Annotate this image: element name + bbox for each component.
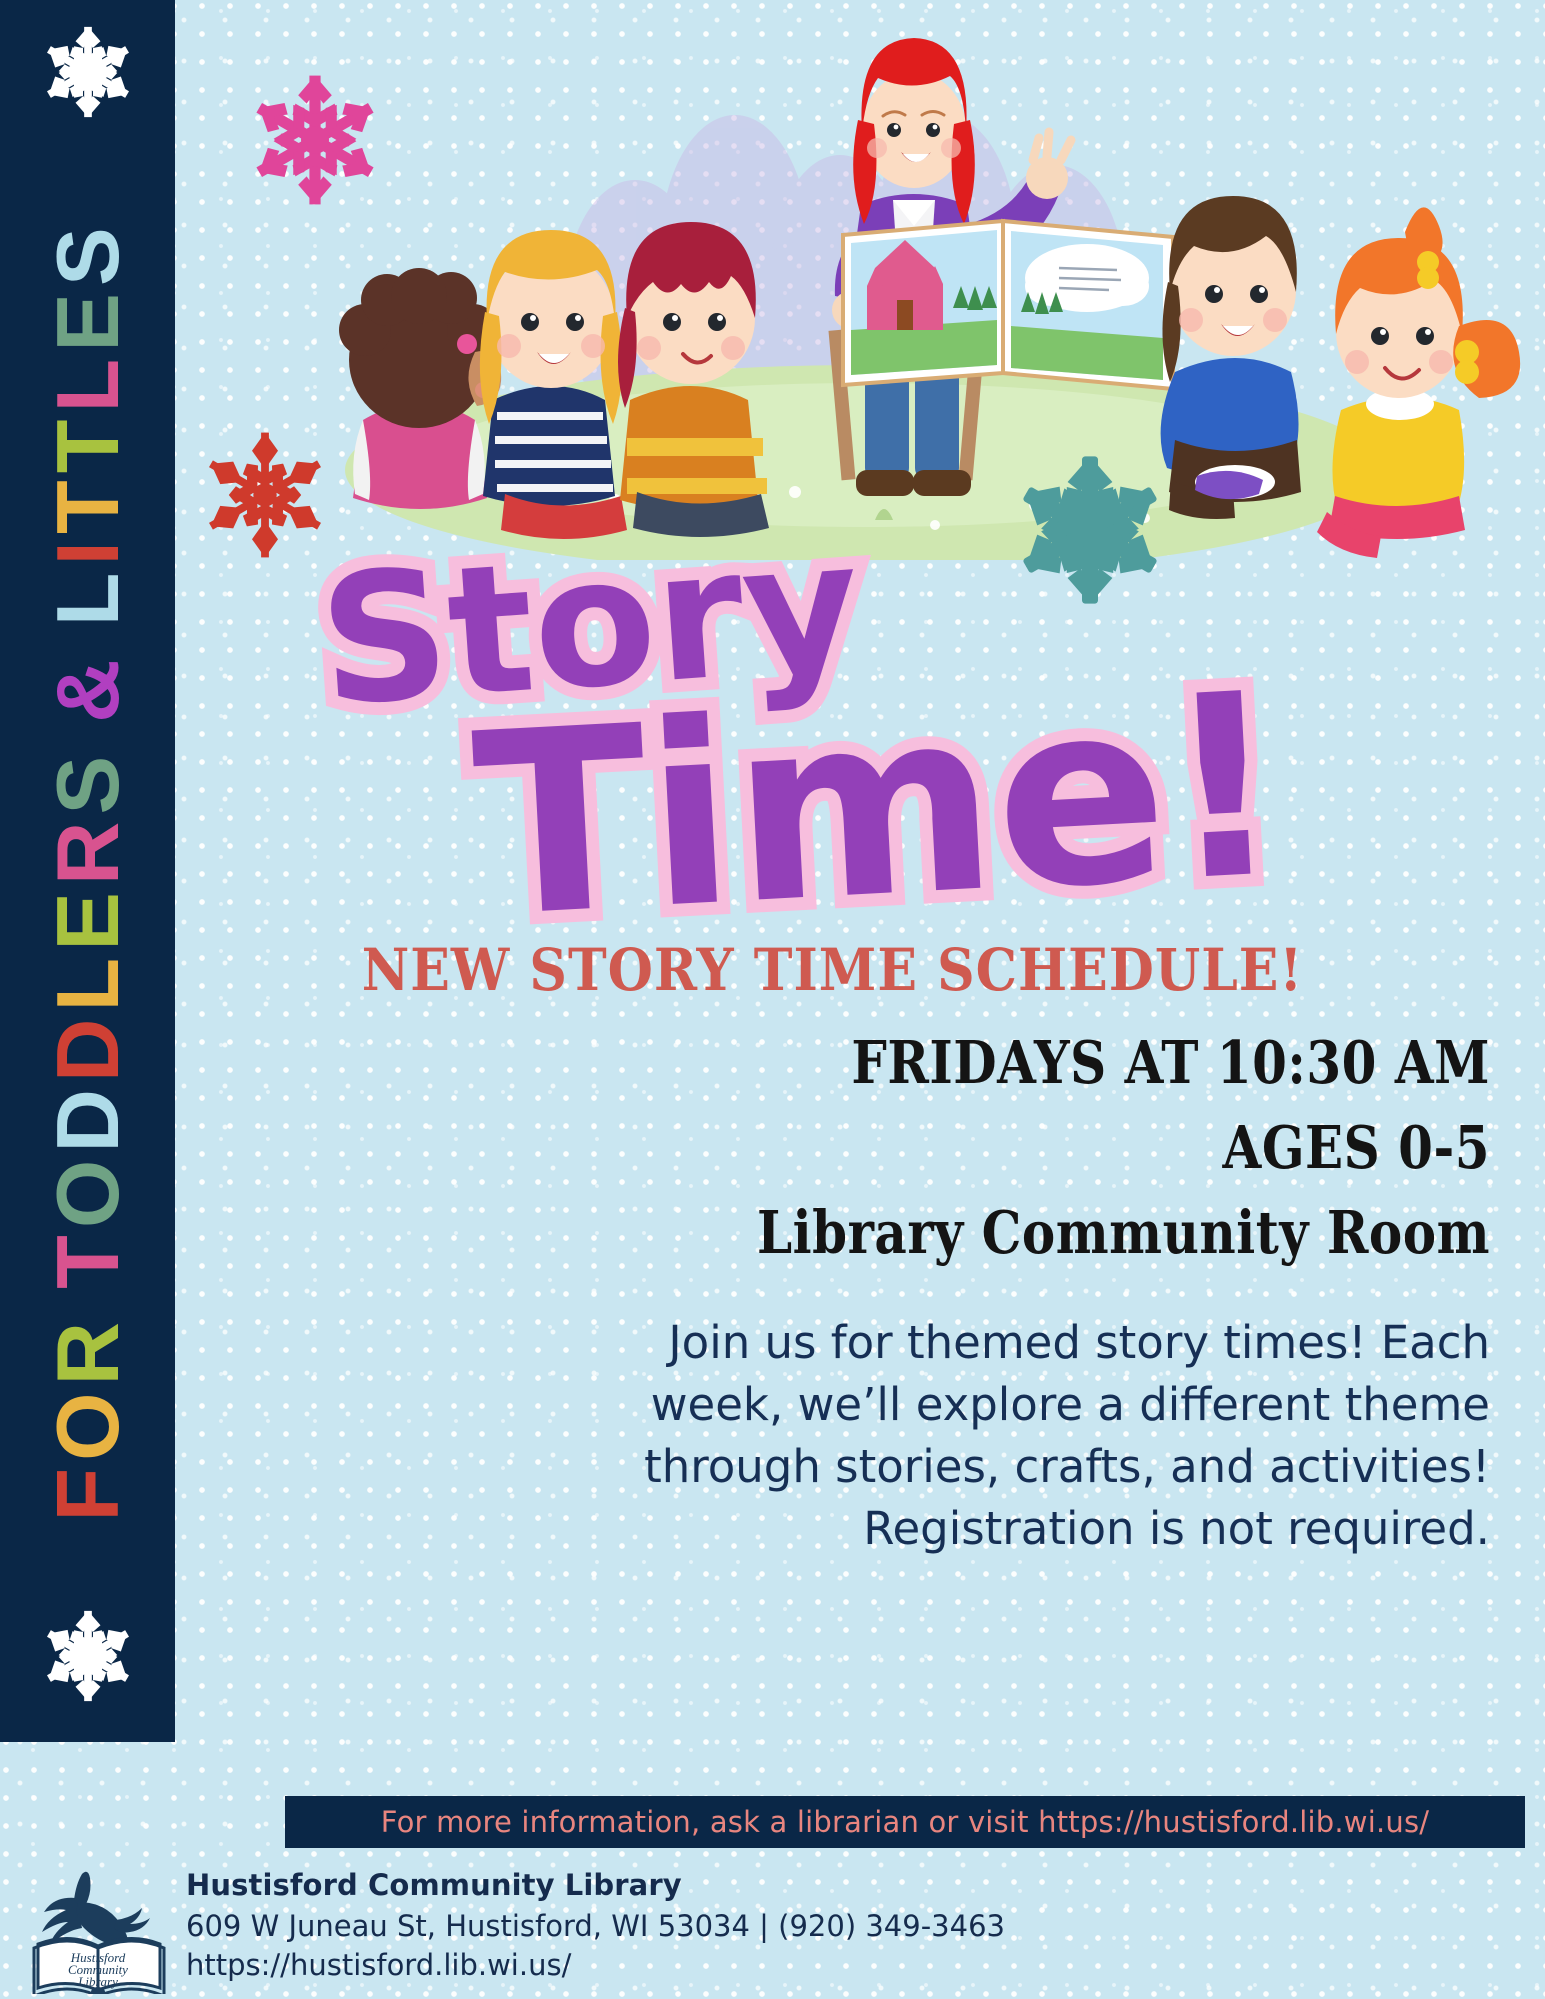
body-copy-line-3: through stories, crafts, and activities! bbox=[175, 1436, 1490, 1498]
sidebar-title-letter: D bbox=[44, 1082, 132, 1153]
sidebar-title-letter bbox=[44, 1289, 132, 1315]
more-info-text[interactable]: For more information, ask a librarian or… bbox=[381, 1805, 1430, 1839]
footer-address: 609 W Juneau St, Hustisford, WI 53034 | … bbox=[186, 1909, 1005, 1943]
body-copy-line-4: Registration is not required. bbox=[175, 1498, 1490, 1560]
sidebar-title-letter: L bbox=[44, 951, 132, 1012]
snowflake-icon-pink bbox=[245, 70, 385, 210]
more-info-banner: For more information, ask a librarian or… bbox=[285, 1796, 1525, 1848]
footer-library-name: Hustisford Community Library bbox=[186, 1868, 1005, 1902]
detail-location: Library Community Room bbox=[175, 1198, 1490, 1268]
illustration-child-4 bbox=[1161, 196, 1301, 519]
sidebar-title-letter: O bbox=[44, 1385, 132, 1460]
sidebar-title-letter: L bbox=[44, 352, 132, 413]
snowflake-icon-bottom bbox=[40, 1608, 136, 1704]
sidebar-title-letter: T bbox=[44, 413, 132, 474]
wordmark-line-time: Time! bbox=[468, 639, 1289, 974]
sidebar-title-letter: L bbox=[44, 565, 132, 626]
sidebar-title-letter: & bbox=[44, 652, 132, 723]
sidebar-title-letter: I bbox=[44, 534, 132, 565]
footer: Hustisford Community Library Hustisford … bbox=[30, 1862, 1530, 1999]
sidebar-title-letter: S bbox=[44, 749, 132, 815]
sidebar-title-letter: O bbox=[44, 1153, 132, 1228]
illustration-child-2 bbox=[480, 230, 627, 539]
detail-ages: AGES 0-5 bbox=[175, 1113, 1490, 1183]
sidebar-title-letter: T bbox=[44, 1228, 132, 1289]
schedule-headline: NEW STORY TIME SCHEDULE! bbox=[175, 936, 1490, 1004]
sidebar-vertical-title: FOR TODDLERS & LITTLES bbox=[44, 220, 132, 1521]
sidebar-title-letter: R bbox=[44, 815, 132, 886]
library-logo: Hustisford Community Library bbox=[30, 1862, 170, 1994]
sidebar-title-letter: E bbox=[44, 286, 132, 352]
footer-text: Hustisford Community Library 609 W Junea… bbox=[186, 1862, 1005, 1982]
main-text-block: NEW STORY TIME SCHEDULE! FRIDAYS AT 10:3… bbox=[175, 930, 1545, 1560]
story-time-wordmark: Story Time! bbox=[300, 520, 1160, 920]
sidebar-title-letter: D bbox=[44, 1012, 132, 1083]
sidebar-title-letter bbox=[44, 626, 132, 652]
sidebar-title-letter: R bbox=[44, 1315, 132, 1386]
sidebar-title-letter: E bbox=[44, 885, 132, 951]
sidebar-title-letter bbox=[44, 723, 132, 749]
illustration-child-1 bbox=[339, 268, 501, 509]
illustration-child-5 bbox=[1317, 207, 1520, 558]
sidebar-title-letter: F bbox=[44, 1461, 132, 1522]
sidebar-title-wrap: FOR TODDLERS & LITTLES bbox=[0, 0, 175, 1742]
poster-canvas: Story Time! bbox=[0, 0, 1545, 1999]
sidebar-banner: FOR TODDLERS & LITTLES bbox=[0, 0, 175, 1742]
detail-day-time: FRIDAYS AT 10:30 AM bbox=[175, 1028, 1490, 1098]
sidebar-title-letter: T bbox=[44, 473, 132, 534]
body-copy-line-1: Join us for themed story times! Each bbox=[175, 1312, 1490, 1374]
body-copy: Join us for themed story times! Each wee… bbox=[175, 1312, 1490, 1560]
logo-line-3: Library bbox=[77, 1974, 118, 1989]
body-copy-line-2: week, we’ll explore a different theme bbox=[175, 1374, 1490, 1436]
footer-url[interactable]: https://hustisford.lib.wi.us/ bbox=[186, 1948, 1005, 1982]
sidebar-title-letter: S bbox=[44, 220, 132, 286]
